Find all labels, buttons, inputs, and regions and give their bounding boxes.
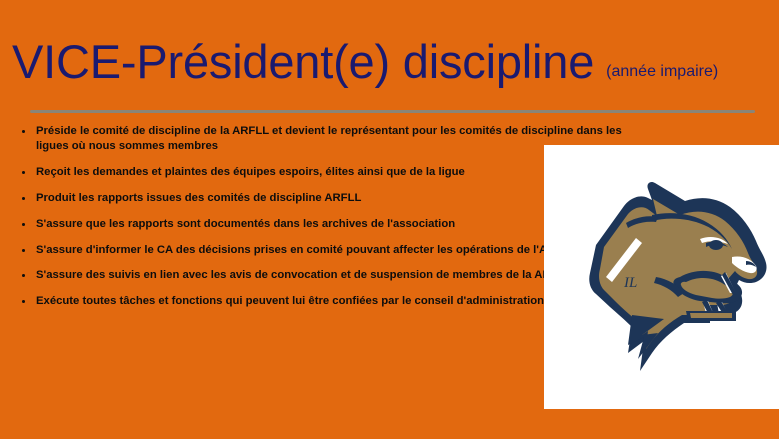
page-title: VICE-Président(e) discipline — [12, 38, 594, 85]
list-item: S'assure que les rapports sont documenté… — [18, 217, 630, 232]
list-item: S'assure d'informer le CA des décisions … — [18, 243, 630, 258]
bullet-list: Préside le comité de discipline de la AR… — [18, 124, 630, 320]
list-item: S'assure des suivis en lien avec les avi… — [18, 268, 630, 283]
cougar-head-mascot-icon: IL — [560, 181, 770, 371]
list-item: Produit les rapports issues des comités … — [18, 191, 630, 206]
slide-canvas: VICE-Président(e) discipline (année impa… — [0, 0, 779, 439]
list-item: Préside le comité de discipline de la AR… — [18, 124, 630, 154]
title-divider — [30, 110, 755, 113]
logo-panel: IL — [544, 145, 779, 409]
list-item: Reçoit les demandes et plaintes des équi… — [18, 165, 630, 180]
page-title-note: (année impaire) — [606, 63, 718, 81]
logo-monogram: IL — [623, 275, 637, 291]
title-block: VICE-Président(e) discipline (année impa… — [12, 38, 772, 100]
list-item: Exécute toutes tâches et fonctions qui p… — [18, 294, 630, 309]
